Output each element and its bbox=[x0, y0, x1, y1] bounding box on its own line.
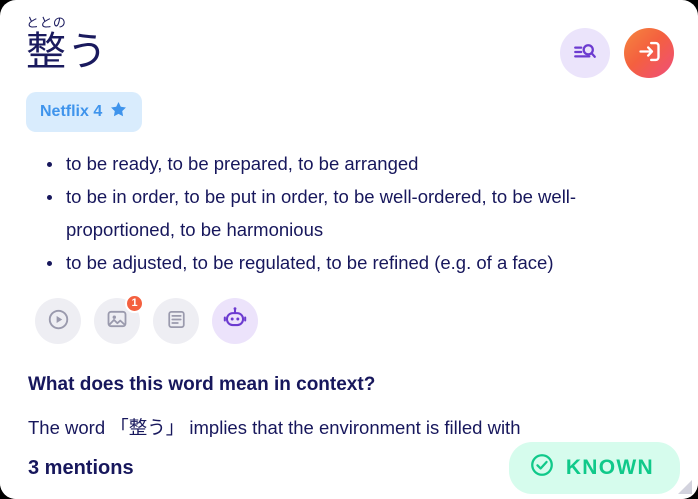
image-count-badge: 1 bbox=[125, 294, 144, 313]
definition-list: to be ready, to be prepared, to be arran… bbox=[18, 148, 680, 280]
known-button-label: KNOWN bbox=[566, 456, 654, 480]
context-question: What does this word mean in context? bbox=[18, 374, 680, 396]
footer-bar: 3 mentions KNOWN bbox=[0, 437, 698, 499]
image-icon bbox=[105, 307, 129, 334]
robot-ai-icon bbox=[222, 306, 248, 335]
article-button[interactable] bbox=[153, 298, 199, 344]
image-button[interactable]: 1 bbox=[94, 298, 140, 344]
definition-item: to be adjusted, to be regulated, to be r… bbox=[64, 247, 680, 280]
netflix-tag[interactable]: Netflix 4 bbox=[26, 92, 142, 132]
headword: 整う bbox=[26, 31, 108, 73]
definition-item: to be in order, to be put in order, to b… bbox=[64, 181, 680, 247]
netflix-tag-label: Netflix 4 bbox=[40, 103, 102, 121]
login-arrow-icon bbox=[636, 38, 663, 68]
login-button[interactable] bbox=[624, 28, 674, 78]
search-list-icon bbox=[572, 39, 598, 68]
furigana-reading: ととの bbox=[26, 16, 108, 30]
known-button[interactable]: KNOWN bbox=[509, 442, 680, 494]
play-button[interactable] bbox=[35, 298, 81, 344]
header: ととの 整う bbox=[18, 16, 680, 78]
star-icon bbox=[109, 100, 128, 124]
scroll-content[interactable]: ととの 整う bbox=[0, 0, 698, 499]
media-icon-row: 1 bbox=[18, 298, 680, 344]
lookup-button[interactable] bbox=[560, 28, 610, 78]
definition-item: to be ready, to be prepared, to be arran… bbox=[64, 148, 680, 181]
tag-row: Netflix 4 bbox=[18, 92, 680, 132]
play-circle-icon bbox=[46, 307, 71, 335]
word-detail-window: ととの 整う bbox=[0, 0, 698, 499]
mentions-count[interactable]: 3 mentions bbox=[28, 457, 134, 480]
check-circle-icon bbox=[529, 452, 555, 484]
header-actions bbox=[560, 16, 680, 78]
title-block: ととの 整う bbox=[18, 16, 108, 73]
ai-assistant-button[interactable] bbox=[212, 298, 258, 344]
article-icon bbox=[165, 308, 188, 334]
resize-grip[interactable] bbox=[673, 475, 693, 495]
